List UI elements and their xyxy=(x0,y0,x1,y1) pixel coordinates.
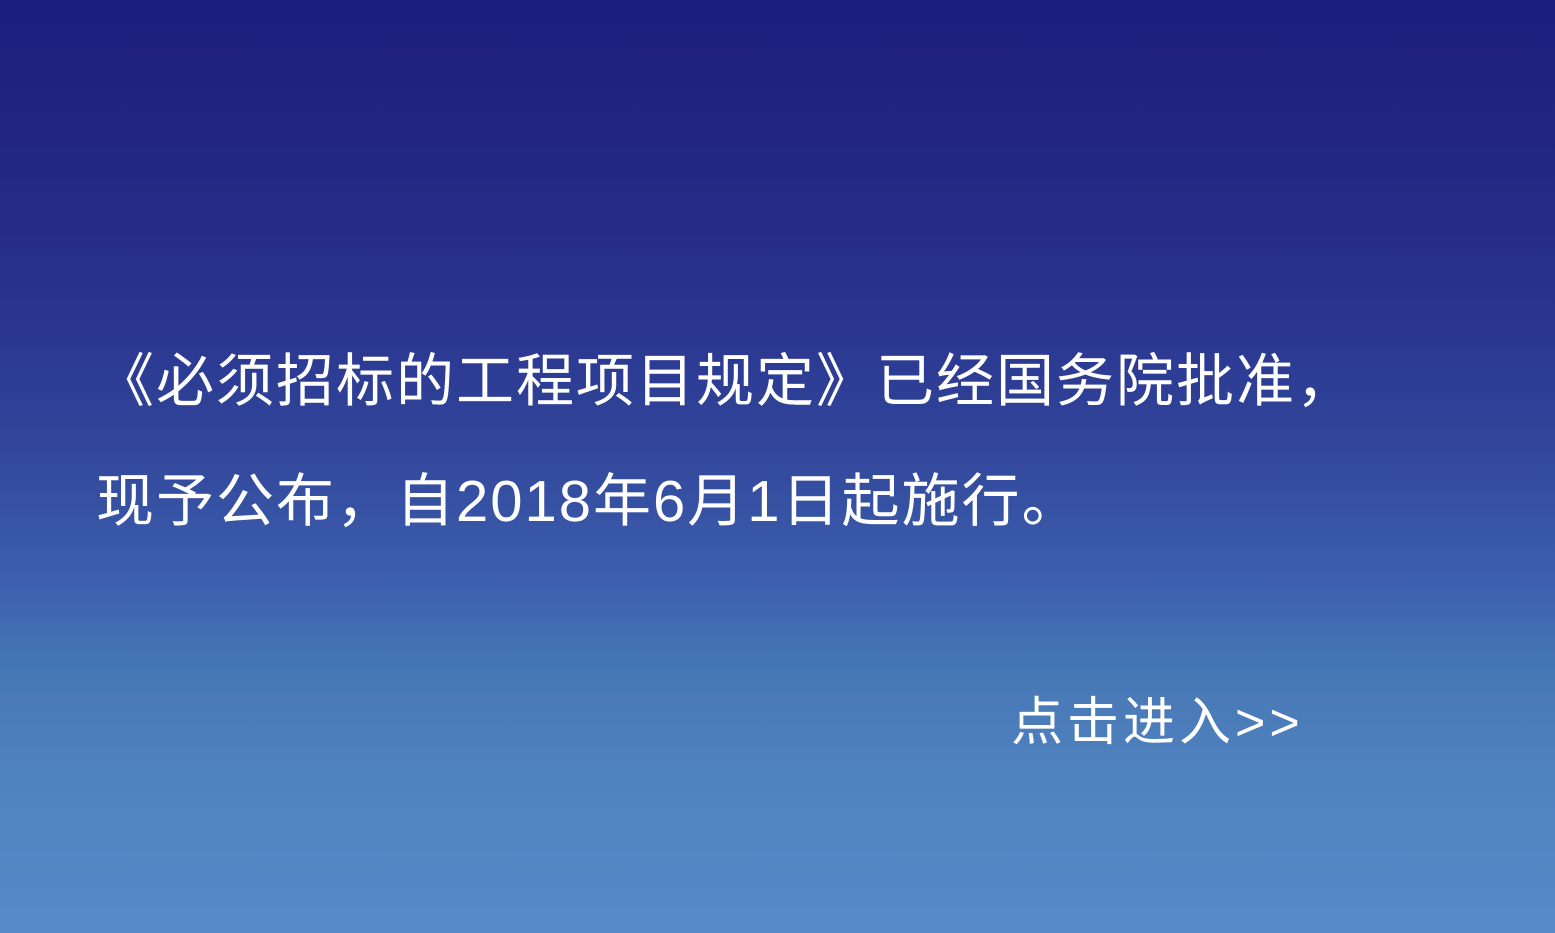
announcement-line-1: 《必须招标的工程项目规定》已经国务院批准， xyxy=(96,322,1476,442)
enter-cta-link[interactable]: 点击进入>> xyxy=(1011,688,1304,758)
announcement-line-2: 现予公布，自2018年6月1日起施行。 xyxy=(96,442,1476,562)
announcement-text-block: 《必须招标的工程项目规定》已经国务院批准， 现予公布，自2018年6月1日起施行… xyxy=(96,322,1476,562)
announcement-banner: 《必须招标的工程项目规定》已经国务院批准， 现予公布，自2018年6月1日起施行… xyxy=(0,0,1555,933)
